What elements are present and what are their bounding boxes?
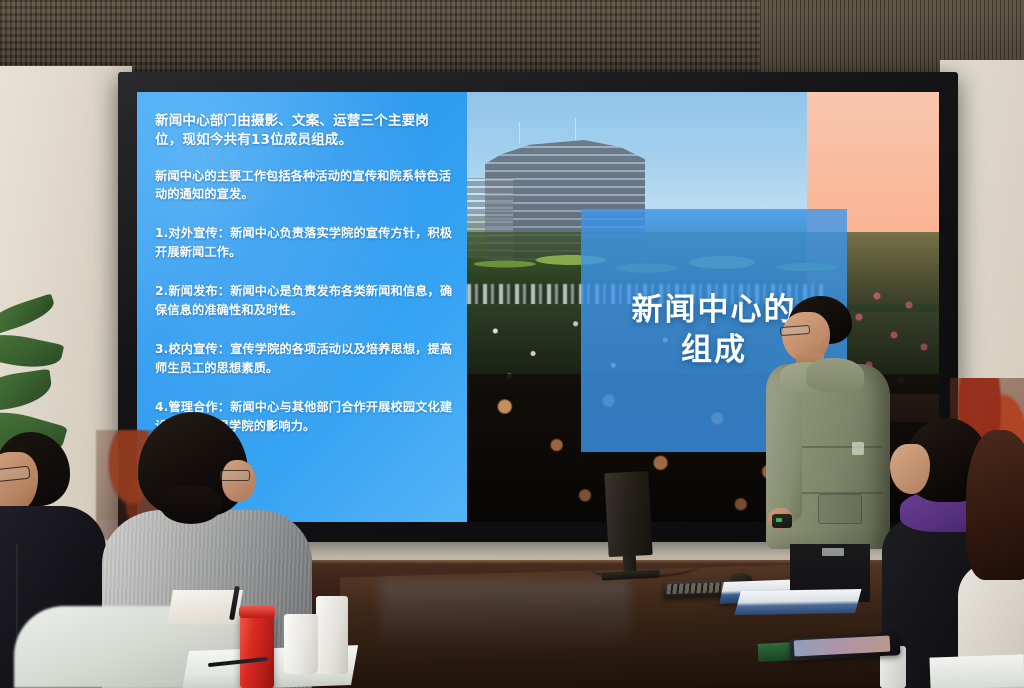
photo-antenna-icon	[519, 122, 520, 144]
presenter-jacket-hood	[806, 358, 864, 392]
paper-cup[interactable]	[284, 614, 318, 674]
attendee-hair-nape	[160, 486, 222, 524]
computer-monitor[interactable]	[604, 471, 655, 575]
documents-right[interactable]	[734, 589, 861, 615]
attendee-face	[222, 460, 256, 502]
glasses-icon	[220, 470, 250, 481]
presenter-ear	[812, 330, 823, 344]
plant-leaf	[0, 369, 54, 414]
photo-antenna-icon	[575, 118, 576, 140]
red-thermos[interactable]	[240, 612, 274, 688]
slide-item-2: 2.新闻发布：新闻中心是负责发布各类新闻和信息，确保信息的准确性和及时性。	[155, 282, 455, 320]
presenter-waist-label	[822, 548, 844, 556]
slide-item-1: 1.对外宣传：新闻中心负责落实学院的宣传方针，积极开展新闻工作。	[155, 224, 455, 262]
slide-heading: 新闻中心部门由摄影、文案、运营三个主要岗位，现如今共有13位成员组成。	[155, 112, 455, 150]
monitor-panel-back	[604, 471, 652, 557]
slide-text-column: 新闻中心部门由摄影、文案、运营三个主要岗位，现如今共有13位成员组成。 新闻中心…	[155, 112, 455, 456]
plant-leaf	[0, 327, 64, 374]
paper-cup-tall[interactable]	[316, 596, 348, 674]
thermos-cap[interactable]	[239, 606, 275, 618]
attendee-face	[890, 444, 930, 494]
slide-item-3: 3.校内宣传：宣传学院的各项活动以及培养思想，提高师生员工的思想素质。	[155, 340, 455, 378]
presenter-sleeve-patch	[852, 442, 864, 455]
presenter-arm	[766, 392, 802, 522]
slide-intro-paragraph: 新闻中心的主要工作包括各种活动的宣传和院系特色活动的通知的宣发。	[155, 167, 455, 203]
table-reflection	[380, 580, 630, 650]
plant-leaf	[0, 293, 58, 336]
meeting-room-scene: 新闻中心部门由摄影、文案、运营三个主要岗位，现如今共有13位成员组成。 新闻中心…	[0, 0, 1024, 688]
presentation-remote-icon[interactable]	[772, 514, 792, 528]
attendee-far-right	[966, 430, 1024, 688]
attendee-hair	[966, 430, 1024, 580]
presenter-jacket-pocket	[818, 494, 862, 524]
stack-of-papers-right[interactable]	[929, 654, 1024, 688]
